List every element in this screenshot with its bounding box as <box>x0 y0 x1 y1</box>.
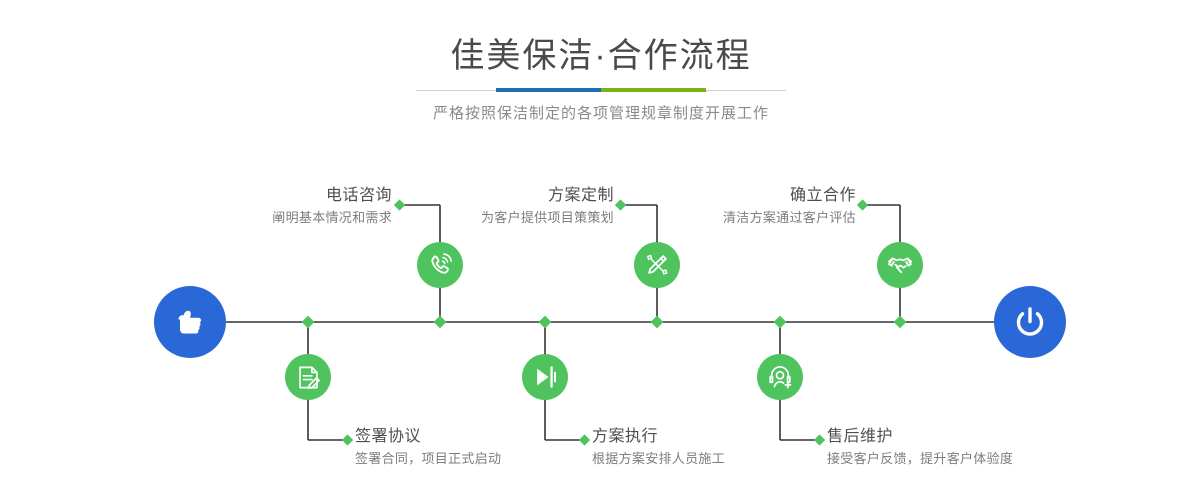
step-label-4-title: 方案执行 <box>592 427 852 447</box>
play-execute-icon <box>531 363 559 391</box>
label-diamond-2 <box>342 434 353 445</box>
step-label-1-title: 电话咨询 <box>180 186 392 206</box>
step-label-5-title: 确立合作 <box>644 186 856 206</box>
axis-diamond-2 <box>434 316 447 329</box>
step-label-3-subtitle: 为客户提供项目策策划 <box>402 208 614 227</box>
axis-diamond-1 <box>302 316 315 329</box>
step-icon-sign-agreement[interactable] <box>285 354 331 400</box>
label-diamond-5 <box>857 199 868 210</box>
step-icon-after-sales-service[interactable] <box>757 354 803 400</box>
pointing-hand-icon <box>170 302 210 342</box>
axis-diamond-3 <box>539 316 552 329</box>
pencil-ruler-icon <box>643 251 671 279</box>
step-label-6: 售后维护 接受客户反馈，提升客户体验度 <box>827 427 1127 468</box>
label-diamond-3 <box>615 199 626 210</box>
step-icon-plan-execution[interactable] <box>522 354 568 400</box>
step-label-6-title: 售后维护 <box>827 427 1127 447</box>
step-label-2-title: 签署协议 <box>355 427 615 447</box>
axis-diamond-6 <box>894 316 907 329</box>
step-label-3: 方案定制 为客户提供项目策策划 <box>402 186 614 227</box>
axis-diamond-5 <box>774 316 787 329</box>
customer-support-icon <box>766 363 794 391</box>
step-icon-establish-cooperation[interactable] <box>877 242 923 288</box>
flow-end-node[interactable] <box>994 286 1066 358</box>
handshake-icon <box>885 250 915 280</box>
step-label-4: 方案执行 根据方案安排人员施工 <box>592 427 852 468</box>
step-label-5-subtitle: 清洁方案通过客户评估 <box>644 208 856 227</box>
step-label-5: 确立合作 清洁方案通过客户评估 <box>644 186 856 227</box>
step-icon-plan-customization[interactable] <box>634 242 680 288</box>
power-button-icon <box>1010 302 1050 342</box>
step-label-1: 电话咨询 阐明基本情况和需求 <box>180 186 392 227</box>
step-label-4-subtitle: 根据方案安排人员施工 <box>592 449 852 468</box>
step-label-6-subtitle: 接受客户反馈，提升客户体验度 <box>827 449 1127 468</box>
step-label-2: 签署协议 签署合同，项目正式启动 <box>355 427 615 468</box>
document-edit-icon <box>295 364 322 391</box>
step-icon-phone-consultation[interactable] <box>417 242 463 288</box>
step-label-3-title: 方案定制 <box>402 186 614 206</box>
axis-diamond-4 <box>651 316 664 329</box>
step-label-2-subtitle: 签署合同，项目正式启动 <box>355 449 615 468</box>
step-label-1-subtitle: 阐明基本情况和需求 <box>180 208 392 227</box>
flow-start-node[interactable] <box>154 286 226 358</box>
phone-call-icon <box>426 251 454 279</box>
process-flow-diagram: 电话咨询 阐明基本情况和需求 方案定制 为客户提供项目策策划 确立合作 清洁方案… <box>0 0 1202 502</box>
